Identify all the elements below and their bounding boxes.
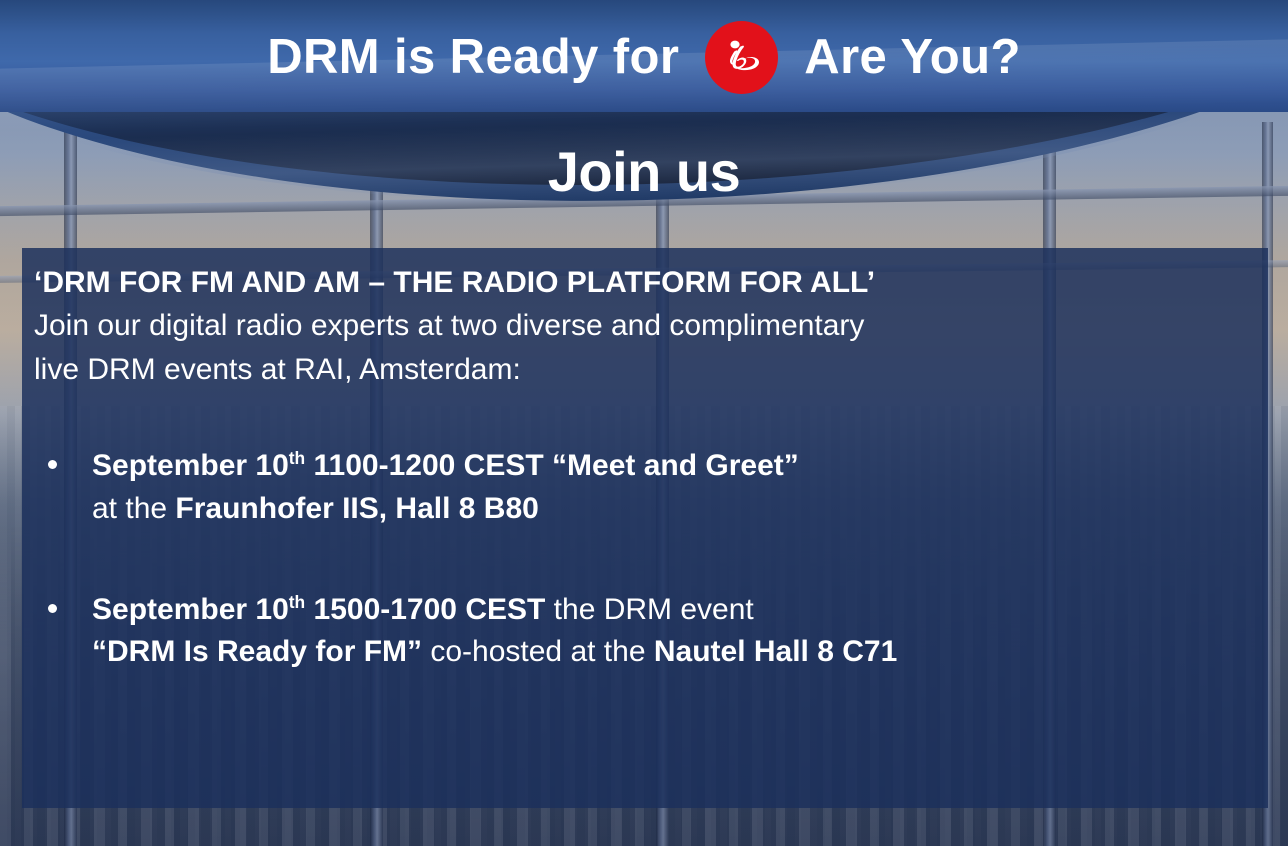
join-us-heading: Join us <box>0 141 1288 203</box>
event-1-venue: Fraunhofer IIS, Hall 8 B80 <box>175 492 538 525</box>
ibc-logo <box>705 21 778 94</box>
event-1-date: September 10 <box>92 449 289 482</box>
bullet-dot-icon <box>48 460 57 469</box>
title-text-before-logo: DRM is Ready for <box>267 33 679 82</box>
slide-title: DRM is Ready for Are You? <box>0 21 1288 94</box>
panel-heading: ‘DRM FOR FM AND AM – THE RADIO PLATFORM … <box>34 264 1250 302</box>
panel-paragraph-line-2: live DRM events at RAI, Amsterdam: <box>34 348 1250 392</box>
event-2-venue: Nautel Hall 8 C71 <box>654 635 897 668</box>
event-details-panel: ‘DRM FOR FM AND AM – THE RADIO PLATFORM … <box>22 248 1268 808</box>
event-1-time-title: 1100-1200 CEST “Meet and Greet” <box>305 449 799 482</box>
list-item: September 10th 1100-1200 CEST “Meet and … <box>34 445 1250 530</box>
bullet-dot-icon <box>48 604 57 613</box>
title-text-after-logo: Are You? <box>804 33 1020 82</box>
event-2-descriptor: the DRM event <box>545 593 753 626</box>
event-2-line-1: September 10th 1500-1700 CEST the DRM ev… <box>92 589 1250 632</box>
event-2-time: 1500-1700 CEST <box>305 593 545 626</box>
event-1-line-2: at the Fraunhofer IIS, Hall 8 B80 <box>92 488 1250 531</box>
event-1-date-ordinal: th <box>289 448 305 468</box>
event-1-venue-lead: at the <box>92 492 175 525</box>
event-2-date-ordinal: th <box>289 592 305 612</box>
list-item: September 10th 1500-1700 CEST the DRM ev… <box>34 589 1250 674</box>
event-2-hosting: co-hosted at the <box>422 635 654 668</box>
panel-paragraph: Join our digital radio experts at two di… <box>34 304 1250 391</box>
event-2-title: “DRM Is Ready for FM” <box>92 635 422 668</box>
event-2-line-2: “DRM Is Ready for FM” co-hosted at the N… <box>92 631 1250 674</box>
event-list: September 10th 1100-1200 CEST “Meet and … <box>34 445 1250 673</box>
slide-canvas: DRM is Ready for Are You? Join us ‘DRM F… <box>0 0 1288 846</box>
panel-paragraph-line-1: Join our digital radio experts at two di… <box>34 304 1250 348</box>
event-2-date: September 10 <box>92 593 289 626</box>
event-1-line-1: September 10th 1100-1200 CEST “Meet and … <box>92 445 1250 488</box>
